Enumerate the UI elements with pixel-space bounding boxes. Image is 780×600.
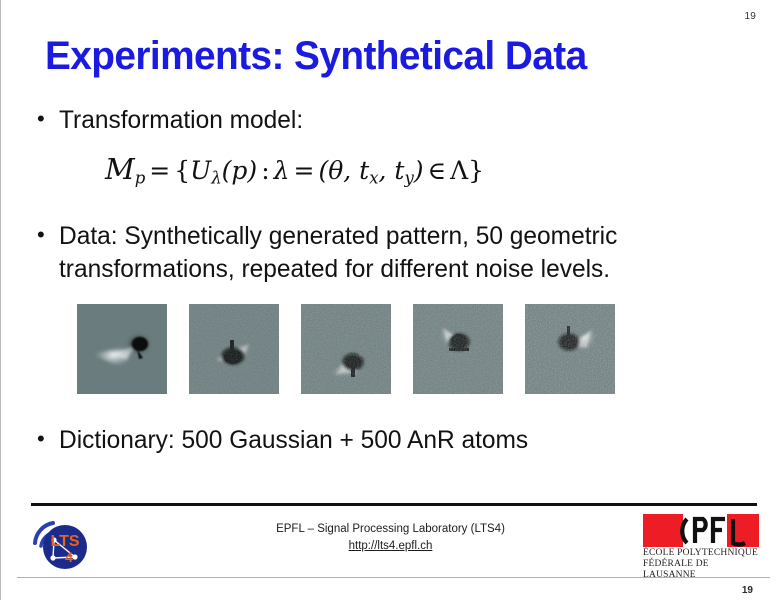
patch-noise-level-1: [189, 304, 279, 394]
formula-params-open: (θ, t: [318, 156, 369, 185]
bullet-transformation-model: • Transformation model:: [37, 104, 677, 137]
formula-equals-2: =: [289, 156, 318, 185]
patch-3-graphic: [413, 304, 503, 394]
formula-params-mid: , t: [379, 156, 405, 185]
epfl-logo: ÉCOLE POLYTECHNIQUE FÉDÉRALE DE LAUSANNE: [643, 514, 759, 566]
formula-colon: :: [257, 156, 273, 185]
bullet-data-description-text: Data: Synthetically generated pattern, 5…: [59, 220, 714, 286]
slide-canvas: 19 Experiments: Synthetical Data • Trans…: [0, 0, 780, 600]
epfl-logo-mark: [643, 514, 759, 547]
patch-1-graphic: [189, 304, 279, 394]
footer-url-link[interactable]: http://lts4.epfl.ch: [349, 540, 433, 552]
formula-operator-argument: (p): [222, 156, 258, 185]
formula-operator-symbol: U: [190, 156, 211, 185]
bullet-dictionary-text: Dictionary: 500 Gaussian + 500 AnR atoms: [59, 424, 684, 457]
formula-equals-1: =: [145, 156, 174, 185]
epfl-wordmark-line-2: FÉDÉRALE DE LAUSANNE: [643, 559, 759, 581]
formula-param-sub-y: y: [404, 169, 413, 188]
epfl-wordmark-line-1: ÉCOLE POLYTECHNIQUE: [643, 548, 759, 559]
patch-noise-level-3: [413, 304, 503, 394]
formula-manifold-subscript: p: [135, 169, 146, 188]
bullet-dictionary: • Dictionary: 500 Gaussian + 500 AnR ato…: [37, 424, 697, 457]
bullet-marker-icon: •: [37, 104, 59, 134]
formula-open-brace: {: [174, 156, 190, 185]
formula-param-sub-x: x: [369, 169, 378, 188]
patch-0-graphic: [77, 304, 167, 394]
transformation-model-formula: Mp={Uλ(p):λ=(θ, tx, ty)∈Λ}: [105, 152, 484, 188]
formula-close-brace: }: [468, 156, 484, 185]
footer-divider: [31, 503, 757, 506]
patch-noise-level-4: [525, 304, 615, 394]
bullet-marker-icon: •: [37, 424, 59, 454]
formula-operator-subscript: λ: [211, 169, 221, 188]
formula-lambda: λ: [274, 156, 290, 185]
page-number-bottom: 19: [742, 585, 753, 596]
epfl-logo-graphic: [643, 514, 759, 547]
bullet-data-description: • Data: Synthetically generated pattern,…: [37, 220, 727, 286]
patch-4-graphic: [525, 304, 615, 394]
bullet-transformation-model-text: Transformation model:: [59, 104, 665, 137]
page-title: Experiments: Synthetical Data: [45, 34, 587, 79]
formula-manifold-symbol: M: [105, 152, 135, 186]
formula-parameter-set: Λ: [450, 156, 468, 185]
page-number-top: 19: [744, 11, 756, 22]
patch-noise-level-2: [301, 304, 391, 394]
bottom-divider: [17, 577, 770, 578]
sample-pattern-image-strip: [77, 304, 617, 394]
formula-member-of: ∈: [424, 156, 451, 185]
formula-params-close: ): [414, 156, 424, 185]
bullet-marker-icon: •: [37, 220, 59, 250]
patch-2-graphic: [301, 304, 391, 394]
patch-noise-level-0: [77, 304, 167, 394]
